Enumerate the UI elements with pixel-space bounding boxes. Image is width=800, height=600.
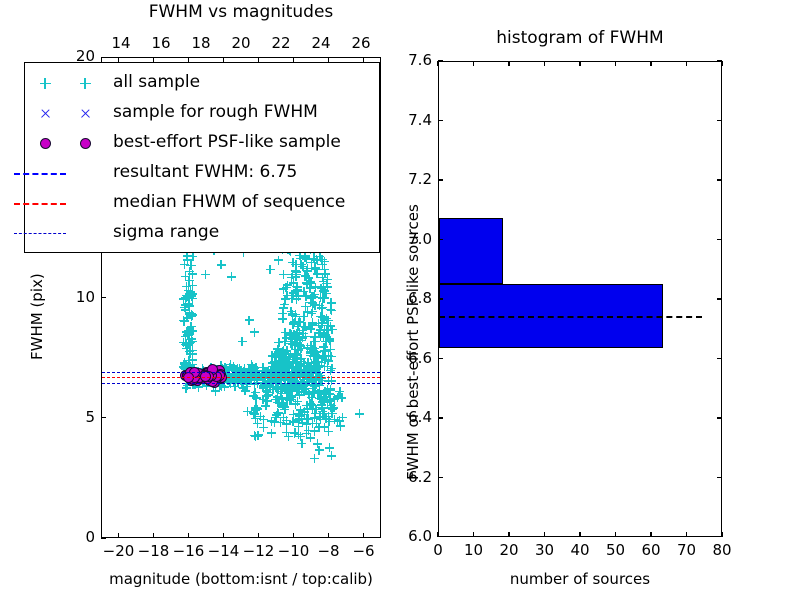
cross-icon xyxy=(80,108,91,119)
legend-item: median FHWM of sequence xyxy=(25,188,379,219)
histogram-axes xyxy=(438,61,722,537)
x-tick-label-top: 16 xyxy=(141,34,181,52)
hist-x-tick-top xyxy=(437,61,438,66)
legend-item: sample for rough FWHM xyxy=(25,98,379,129)
hist-x-tick xyxy=(437,532,438,537)
hist-y-tick-label: 7.6 xyxy=(376,51,432,69)
sigma-upper-line xyxy=(102,372,380,373)
hist-x-tick xyxy=(686,532,687,537)
plus-icon xyxy=(80,78,91,89)
hist-x-tick-top xyxy=(615,61,616,66)
legend-item-label: median FHWM of sequence xyxy=(113,192,345,212)
dashed-blue-line-icon xyxy=(14,173,66,175)
legend-item-label: sigma range xyxy=(113,222,219,242)
legend-marker-slot-a xyxy=(25,68,65,99)
hist-x-tick-top xyxy=(473,61,474,66)
x-tick-bottom xyxy=(153,533,154,538)
hist-y-tick xyxy=(438,239,443,240)
hist-y-tick-right xyxy=(717,298,722,299)
median-fwhm-line xyxy=(102,377,380,378)
plus-icon xyxy=(40,78,51,89)
hist-y-tick xyxy=(438,358,443,359)
hist-x-tick-top xyxy=(721,61,722,66)
circle-icon xyxy=(80,138,91,149)
hist-x-tick xyxy=(579,532,580,537)
hist-y-tick-right xyxy=(717,60,722,61)
right-ylabel: FWHM of best-effort PSF-like sources xyxy=(404,204,422,480)
hist-x-tick-top xyxy=(508,61,509,66)
legend-marker-slot-b xyxy=(65,98,105,129)
hist-x-tick-label: 20 xyxy=(489,541,529,559)
hist-x-tick-top xyxy=(686,61,687,66)
hist-x-tick-label: 30 xyxy=(525,541,565,559)
legend-item: sigma range xyxy=(25,218,379,249)
x-tick-bottom xyxy=(293,533,294,538)
sigma-lower-line xyxy=(102,383,380,384)
legend-item-label: sample for rough FWHM xyxy=(113,102,318,122)
hist-x-tick-label: 50 xyxy=(596,541,636,559)
hist-y-tick xyxy=(438,477,443,478)
hist-y-tick xyxy=(438,60,443,61)
legend-marker-slot-a xyxy=(25,128,65,159)
hist-x-tick xyxy=(544,532,545,537)
dashdot-blue-line-icon xyxy=(14,233,66,234)
x-tick-label-top: 22 xyxy=(261,34,301,52)
hist-x-tick-label: 80 xyxy=(702,541,742,559)
legend-marker-slot-b xyxy=(65,68,105,99)
x-tick-label-top: 18 xyxy=(181,34,221,52)
hist-y-tick-right xyxy=(717,120,722,121)
x-tick-label-top: 20 xyxy=(221,34,261,52)
hist-x-tick-top xyxy=(579,61,580,66)
x-tick-label-top: 24 xyxy=(301,34,341,52)
histogram-bar xyxy=(439,218,503,283)
hist-x-tick-label: 60 xyxy=(631,541,671,559)
legend-item-label: all sample xyxy=(113,72,200,92)
right-panel-title: histogram of FWHM xyxy=(438,28,722,48)
dashed-red-line-icon xyxy=(14,203,66,205)
legend-marker-slot-a xyxy=(25,98,65,129)
hist-y-tick-right xyxy=(717,477,722,478)
hist-y-tick-right xyxy=(717,239,722,240)
hist-y-tick xyxy=(438,298,443,299)
x-tick-bottom xyxy=(223,533,224,538)
figure-canvas: FWHM vs magnitudes −20−18−16−14−12−10−8−… xyxy=(0,0,800,600)
legend-item: all sample xyxy=(25,68,379,99)
cross-icon xyxy=(40,108,51,119)
hist-y-tick xyxy=(438,417,443,418)
hist-x-tick-top xyxy=(544,61,545,66)
x-tick-bottom xyxy=(363,533,364,538)
legend-item: best-effort PSF-like sample xyxy=(25,128,379,159)
hist-y-tick-label: 7.4 xyxy=(376,111,432,129)
hist-y-tick xyxy=(438,179,443,180)
legend-box: all samplesample for rough FWHMbest-effo… xyxy=(24,62,380,253)
x-tick-bottom xyxy=(258,533,259,538)
y-tick xyxy=(101,417,106,418)
legend-item-label: resultant FWHM: 6.75 xyxy=(113,162,297,182)
left-ylabel: FWHM (pix) xyxy=(28,273,46,360)
hist-y-tick-label: 7.2 xyxy=(376,170,432,188)
legend-marker-slot-b xyxy=(65,128,105,159)
hist-x-tick xyxy=(650,532,651,537)
hist-x-tick-label: 40 xyxy=(560,541,600,559)
x-tick-label-top: 26 xyxy=(341,34,381,52)
y-tick-label: 5 xyxy=(45,408,95,426)
histogram-median-line xyxy=(439,316,702,318)
y-tick xyxy=(101,297,106,298)
y-tick-label: 10 xyxy=(45,288,95,306)
hist-y-tick-label: 6.0 xyxy=(376,527,432,545)
circle-icon xyxy=(40,138,51,149)
legend-item-label: best-effort PSF-like sample xyxy=(113,132,341,152)
hist-x-tick-label: 10 xyxy=(454,541,494,559)
hist-x-tick xyxy=(508,532,509,537)
hist-x-tick xyxy=(473,532,474,537)
hist-x-tick xyxy=(615,532,616,537)
x-tick-bottom xyxy=(118,533,119,538)
hist-y-tick-right xyxy=(717,358,722,359)
hist-x-tick-top xyxy=(650,61,651,66)
left-panel-title: FWHM vs magnitudes xyxy=(101,2,381,22)
hist-y-tick-right xyxy=(717,417,722,418)
left-xlabel: magnitude (bottom:isnt / top:calib) xyxy=(101,570,381,588)
y-tick xyxy=(101,537,106,538)
legend-item: resultant FWHM: 6.75 xyxy=(25,158,379,189)
right-xlabel: number of sources xyxy=(438,570,722,588)
x-tick-bottom xyxy=(328,533,329,538)
hist-x-tick xyxy=(721,532,722,537)
x-tick-label-top: 14 xyxy=(101,34,141,52)
hist-y-tick xyxy=(438,120,443,121)
hist-y-tick-right xyxy=(717,179,722,180)
y-tick-label: 0 xyxy=(45,528,95,546)
hist-x-tick-label: 70 xyxy=(667,541,707,559)
histogram-bars-layer xyxy=(439,62,721,536)
x-tick-bottom xyxy=(188,533,189,538)
